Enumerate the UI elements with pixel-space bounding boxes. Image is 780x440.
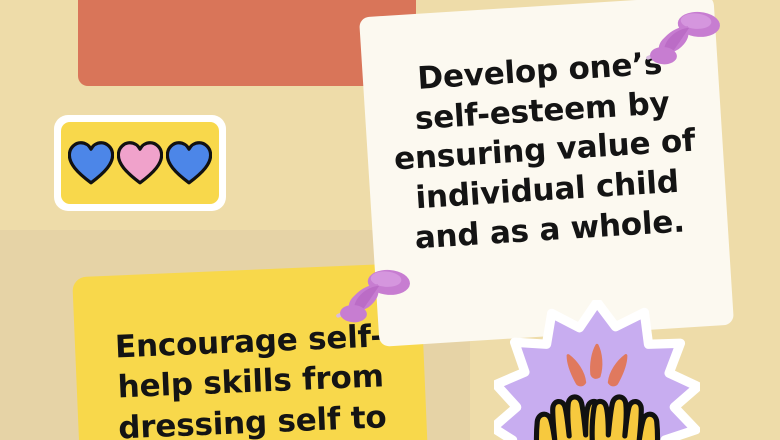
hearts-card-inner [61,122,219,204]
raising-hands-badge [494,300,700,440]
slide-canvas: Encourage self-help skills from dressing… [0,0,780,440]
heart-icon [166,141,212,185]
heart-icon [68,141,114,185]
hearts-card [54,115,226,211]
heart-icon [117,141,163,185]
